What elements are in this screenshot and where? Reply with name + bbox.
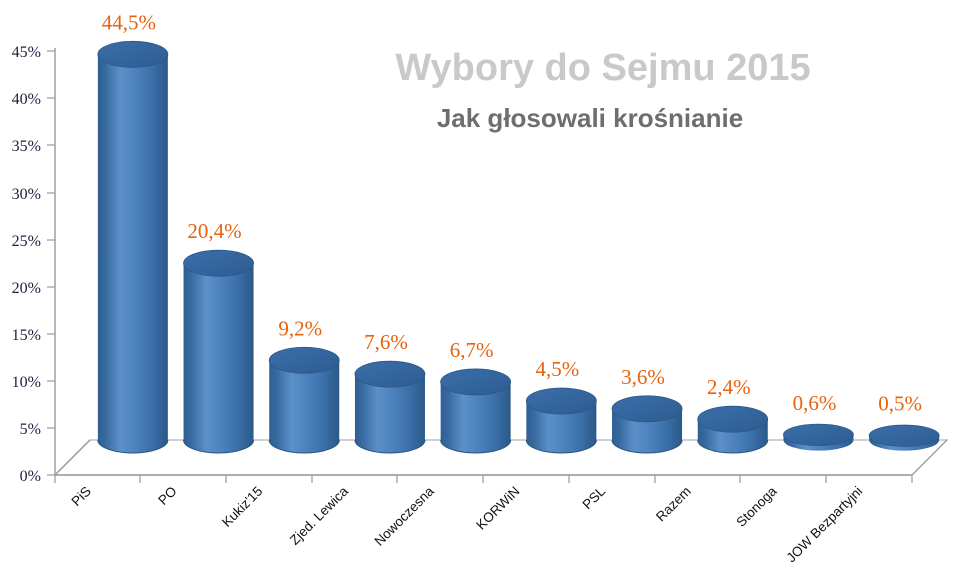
bar-cylinder[interactable] (869, 425, 939, 451)
bar-data-label: 6,7% (450, 338, 494, 362)
bar-cylinder[interactable] (184, 250, 254, 453)
bar-cylinder[interactable] (698, 406, 768, 453)
bar-data-label: 0,5% (878, 392, 922, 416)
bar-data-label: 7,6% (364, 330, 408, 354)
bar-top-ellipse (98, 41, 168, 67)
y-tick-label: 5% (20, 421, 41, 438)
bar-cylinder[interactable] (612, 396, 682, 453)
y-tick-label: 20% (12, 280, 41, 297)
bar-body (184, 263, 254, 453)
bar-top-ellipse (269, 347, 339, 373)
bar-data-label: 20,4% (187, 219, 241, 243)
bar-cylinder[interactable] (355, 361, 425, 453)
votes-bar-chart: 45% 40% 35% 30% 25% 20% 15% 10% 5% 0% Wy… (0, 0, 954, 580)
bar-top-ellipse (441, 369, 511, 395)
bar-top-ellipse (698, 406, 768, 432)
y-tick-label: 40% (12, 91, 41, 108)
bar-top-ellipse (184, 250, 254, 276)
y-tick-label: 10% (12, 374, 41, 391)
bar-data-label: 9,2% (278, 316, 322, 340)
y-tick-label: 35% (12, 138, 41, 155)
y-tick-label: 30% (12, 186, 41, 203)
bar-data-label: 0,6% (793, 391, 837, 415)
bar-body (98, 54, 168, 453)
bar-data-label: 44,5% (102, 10, 156, 34)
bar-cylinder[interactable] (269, 347, 339, 453)
bar-data-label: 2,4% (707, 375, 751, 399)
bar-top-ellipse (355, 361, 425, 387)
chart-container: 45% 40% 35% 30% 25% 20% 15% 10% 5% 0% Wy… (0, 0, 954, 580)
y-tick-label: 0% (20, 468, 41, 485)
bar-cylinder[interactable] (98, 41, 168, 453)
bar-cylinder[interactable] (441, 369, 511, 453)
bar-top-ellipse (783, 424, 853, 445)
bar-body (269, 360, 339, 453)
bar-top-ellipse (526, 388, 596, 414)
y-tick-label: 15% (12, 327, 41, 344)
bar-cylinder[interactable] (526, 388, 596, 453)
bar-cylinder[interactable] (783, 424, 853, 451)
bar-data-label: 3,6% (621, 365, 665, 389)
y-tick-label: 25% (12, 233, 41, 250)
bar-data-label: 4,5% (535, 357, 579, 381)
page-title: Wybory do Sejmu 2015 (395, 47, 810, 89)
chart-subtitle: Jak głosowali krośnianie (437, 103, 743, 133)
bar-top-ellipse (612, 396, 682, 422)
y-tick-label: 45% (12, 44, 41, 61)
bar-top-ellipse (869, 425, 939, 446)
